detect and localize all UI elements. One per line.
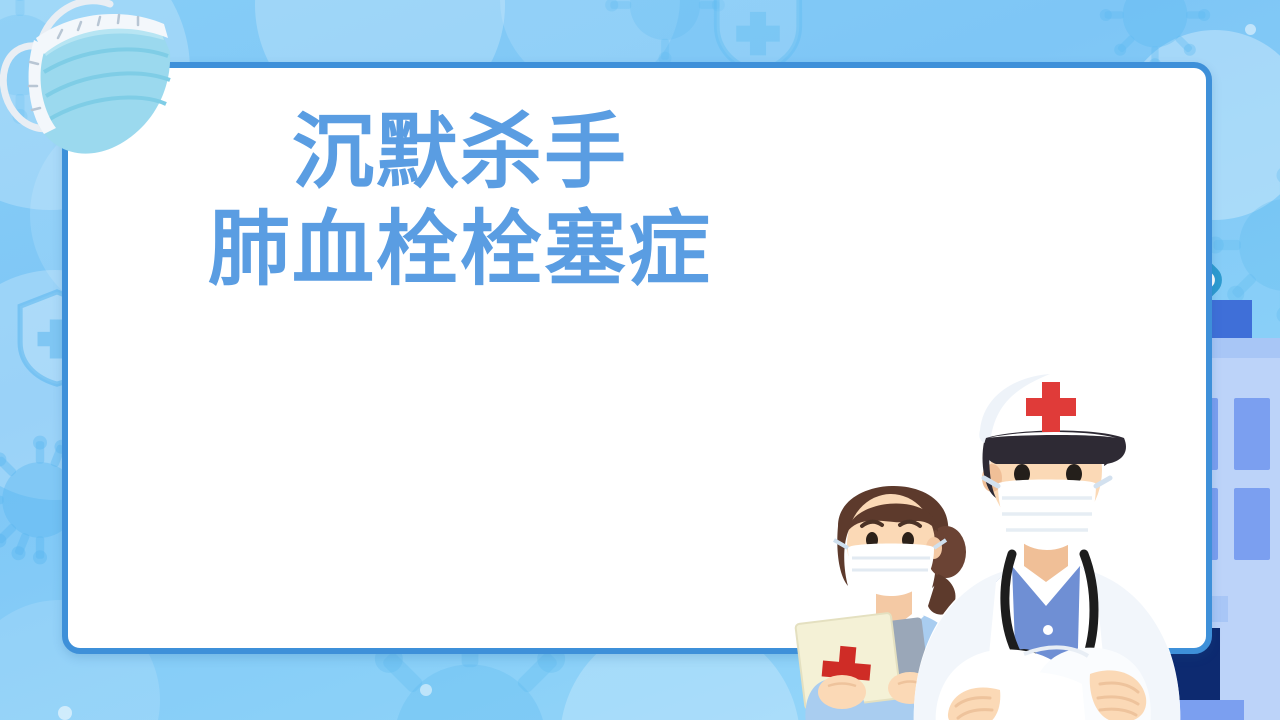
- presentation-slide: 沉默杀手 肺血栓栓塞症: [0, 0, 1280, 720]
- sparkle-dot: [1245, 24, 1256, 35]
- virus-icon: [600, 0, 730, 70]
- sparkle-dot: [58, 706, 72, 720]
- surgical-mask-icon: [0, 0, 182, 164]
- title-line-secondary: 肺血栓栓塞症: [110, 202, 810, 299]
- sparkle-dot: [420, 684, 432, 696]
- title-line-primary: 沉默杀手: [110, 105, 810, 202]
- doctor-character: [900, 338, 1190, 720]
- page-title: 沉默杀手 肺血栓栓塞症: [110, 105, 810, 299]
